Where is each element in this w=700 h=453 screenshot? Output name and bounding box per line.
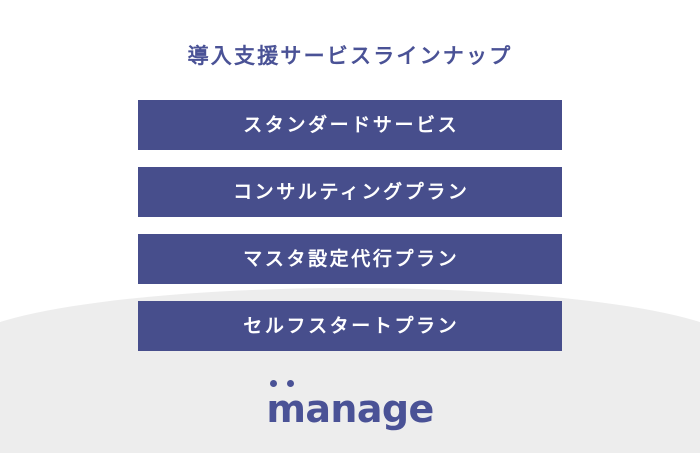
plan-list: スタンダードサービス コンサルティングプラン マスタ設定代行プラン セルフスター… [138, 100, 562, 351]
page-title: 導入支援サービスラインナップ [0, 44, 700, 70]
brand-logo: manage [0, 381, 700, 428]
logo-mark: manage [266, 381, 433, 428]
plan-bar-master-setup[interactable]: マスタ設定代行プラン [138, 234, 562, 284]
slide-canvas: 導入支援サービスラインナップ スタンダードサービス コンサルティングプラン マス… [0, 0, 700, 453]
plan-bar-label: コンサルティングプラン [230, 183, 469, 202]
plan-bar-label: マスタ設定代行プラン [241, 250, 460, 269]
logo-wordmark: manage [266, 381, 433, 428]
plan-bar-label: スタンダードサービス [241, 116, 460, 135]
plan-bar-consulting[interactable]: コンサルティングプラン [138, 167, 562, 217]
plan-bar-standard[interactable]: スタンダードサービス [138, 100, 562, 150]
plan-bar-self-start[interactable]: セルフスタートプラン [138, 301, 562, 351]
plan-bar-label: セルフスタートプラン [241, 317, 460, 336]
